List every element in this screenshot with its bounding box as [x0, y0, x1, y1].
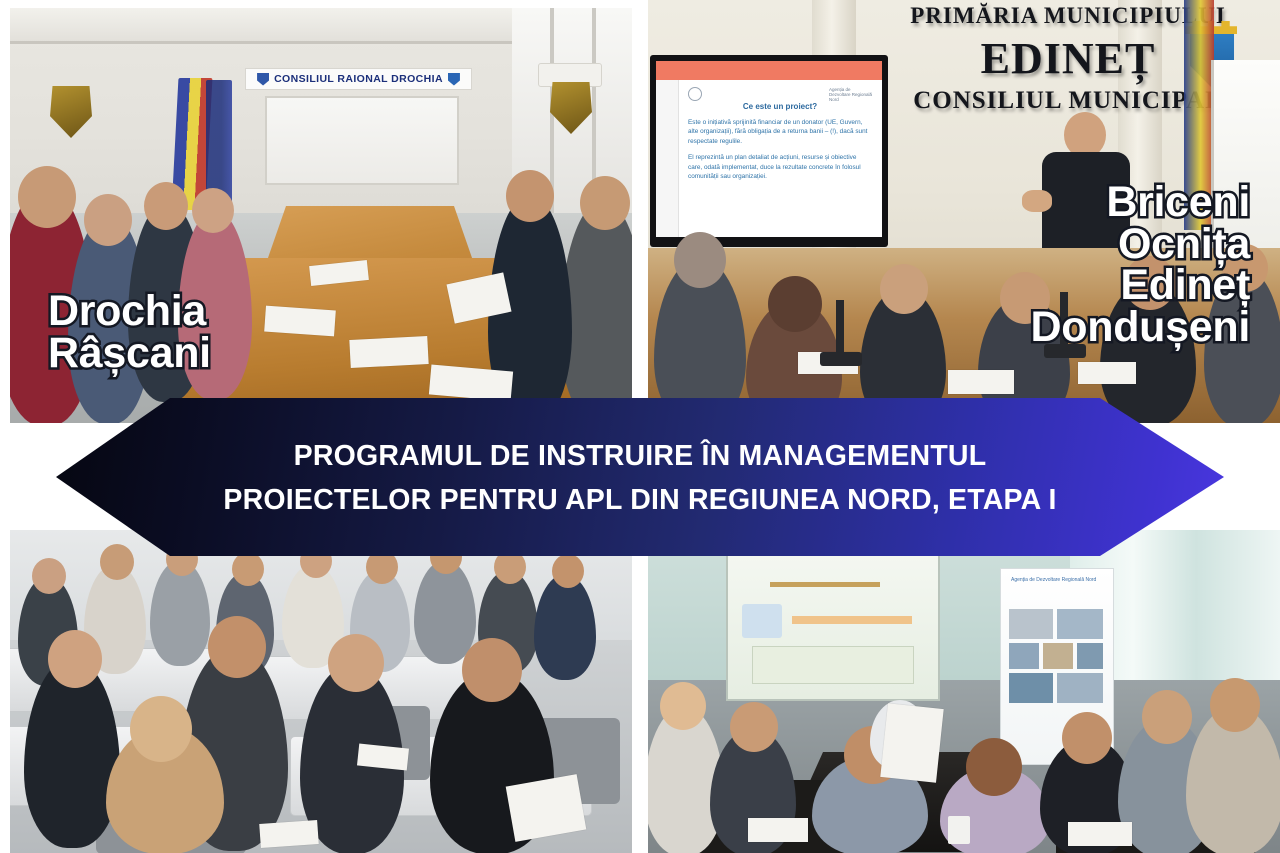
caption-line: Ocnița	[1031, 224, 1250, 266]
drochia-council-sign: CONSILIUL RAIONAL DROCHIA	[245, 68, 472, 90]
rollup-banner-text: Agenția de Dezvoltare Regională Nord	[1011, 577, 1096, 584]
slide-heading: Ce este un proiect?	[688, 102, 872, 111]
caption-briceni-group: Briceni Ocnița Edineț Dondușeni	[1031, 182, 1250, 349]
poster: CONSILIUL RAIONAL DROCHIA	[0, 0, 1280, 853]
title-line-1: PROGRAMUL DE INSTRUIRE ÎN MANAGEMENTUL	[294, 434, 987, 478]
caption-line: Drochia	[48, 291, 211, 333]
photo-balti-glodeni-falesti-sangerei: Agenția de Dezvoltare Regională Nord	[648, 530, 1280, 853]
drochia-council-sign-text: CONSILIUL RAIONAL DROCHIA	[274, 73, 443, 85]
slide-paragraph: El reprezintă un plan detaliat de acțiun…	[688, 153, 872, 181]
caption-line: Briceni	[1031, 182, 1250, 224]
presentation-slide: Agenția deDezvoltare RegionalăNord Ce es…	[680, 82, 880, 237]
title-banner: PROGRAMUL DE INSTRUIRE ÎN MANAGEMENTUL P…	[40, 398, 1240, 558]
presentation-display: Agenția deDezvoltare RegionalăNord Ce es…	[650, 55, 888, 247]
photo-floresti-soroca: Florești Soroca	[10, 530, 632, 853]
slide-paragraph: Este o inițiativă sprijinită financiar d…	[688, 118, 872, 146]
caption-drochia-rascani: Drochia Râșcani	[48, 291, 211, 374]
caption-line: Râșcani	[48, 333, 211, 375]
photo-drochia-rascani: CONSILIUL RAIONAL DROCHIA	[10, 8, 632, 423]
caption-line: Dondușeni	[1031, 307, 1250, 349]
caption-line: Edineț	[1031, 265, 1250, 307]
title-line-2: PROIECTELOR PENTRU APL DIN REGIUNEA NORD…	[223, 478, 1056, 522]
projection-screen	[726, 552, 940, 701]
photo-briceni-ocnita-edinet-donduseni: PRIMĂRIA MUNICIPIULUI EDINEȚ CONSILIUL M…	[648, 0, 1280, 423]
